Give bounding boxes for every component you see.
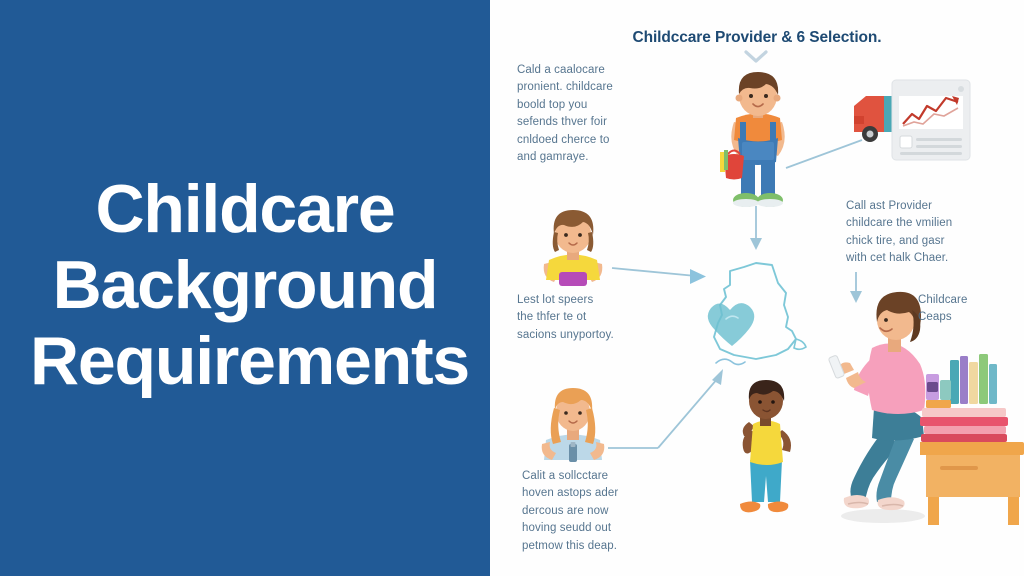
top-left-paragraph: Cald a caalocare pronient. childcare boo… bbox=[517, 62, 687, 167]
diagram-title: Childccare Provider & 6 Selection. bbox=[490, 29, 1024, 47]
girl-yellow-shirt-illustration bbox=[532, 202, 614, 286]
blonde-girl-to-map-arrow bbox=[608, 369, 723, 448]
page-title: Childcare Background Requirements bbox=[30, 171, 460, 399]
new-england-map-illustration bbox=[700, 255, 810, 375]
desk-with-books-illustration bbox=[920, 352, 1024, 528]
childcare-ceaps-label: Childcare Ceaps bbox=[918, 292, 1018, 327]
report-card-chart-illustration bbox=[890, 78, 972, 162]
boy-in-overalls-illustration bbox=[698, 58, 818, 218]
girl-blonde-blue-shirt-illustration bbox=[532, 382, 614, 464]
left-title-panel: Childcare Background Requirements bbox=[0, 0, 490, 576]
girl-to-map-arrow bbox=[612, 268, 706, 284]
slide-root: Childcare Background Requirements Childc… bbox=[0, 0, 1024, 576]
boy-yellow-tank-illustration bbox=[720, 378, 812, 528]
middle-left-paragraph: Lest lot speers the thfer te ot sacions … bbox=[517, 292, 677, 344]
right-paragraph: Call ast Provider childcare the vmilien … bbox=[846, 198, 1014, 268]
bottom-left-paragraph: Calit a sollcctare hoven astops ader der… bbox=[522, 468, 692, 555]
infographic-panel: Childccare Provider & 6 Selection. bbox=[490, 0, 1024, 576]
